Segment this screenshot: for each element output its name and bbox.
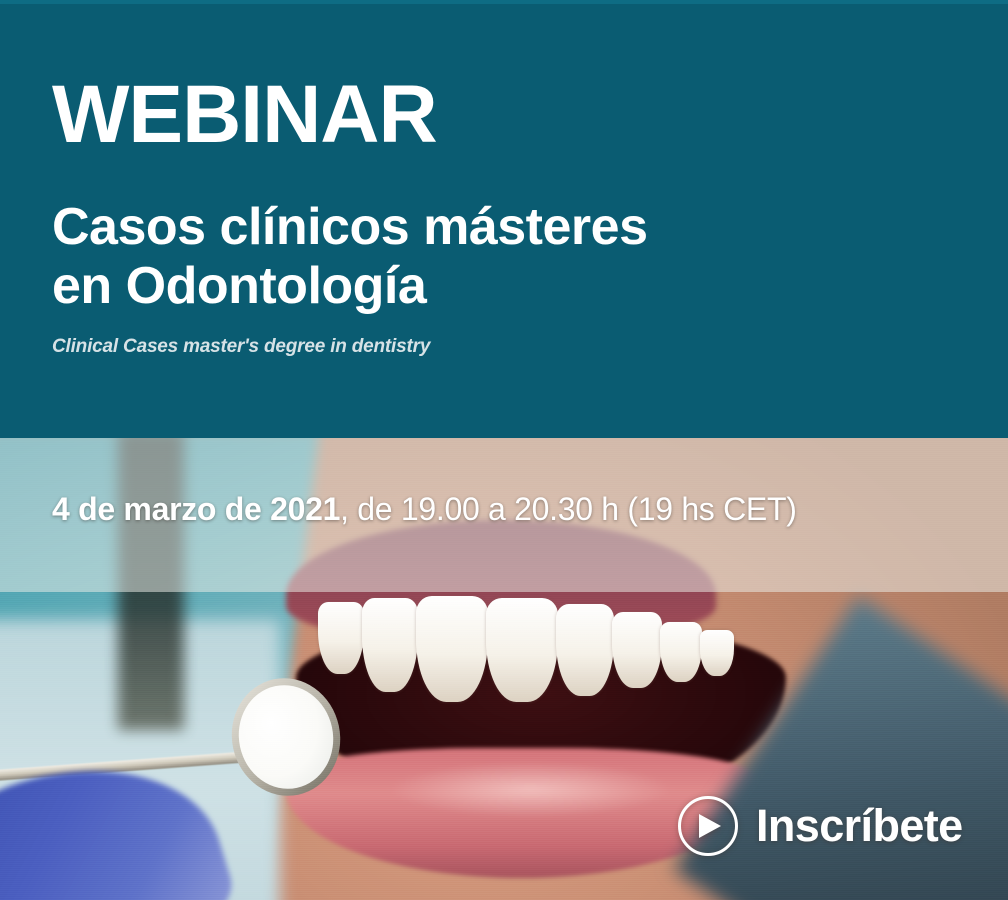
webinar-promo-banner: WEBINAR Casos clínicos másteres en Odont…	[0, 0, 1008, 900]
play-circle-icon[interactable]	[678, 796, 738, 856]
course-subtitle-english: Clinical Cases master's degree in dentis…	[52, 336, 430, 358]
page-title: WEBINAR	[52, 74, 437, 156]
register-button-label: Inscríbete	[756, 800, 963, 852]
register-button[interactable]: Inscríbete	[678, 796, 963, 856]
schedule-time: , de 19.00 a 20.30 h (19 hs CET)	[340, 491, 796, 527]
course-title-line-1: Casos clínicos másteres	[52, 198, 648, 257]
schedule-date: 4 de marzo de 2021	[52, 491, 340, 527]
schedule-line: 4 de marzo de 2021, de 19.00 a 20.30 h (…	[52, 491, 797, 528]
course-title-line-2: en Odontología	[52, 257, 648, 316]
header-top-highlight	[0, 0, 1008, 4]
header-panel: WEBINAR Casos clínicos másteres en Odont…	[0, 0, 1008, 438]
course-title: Casos clínicos másteres en Odontología	[52, 198, 648, 317]
